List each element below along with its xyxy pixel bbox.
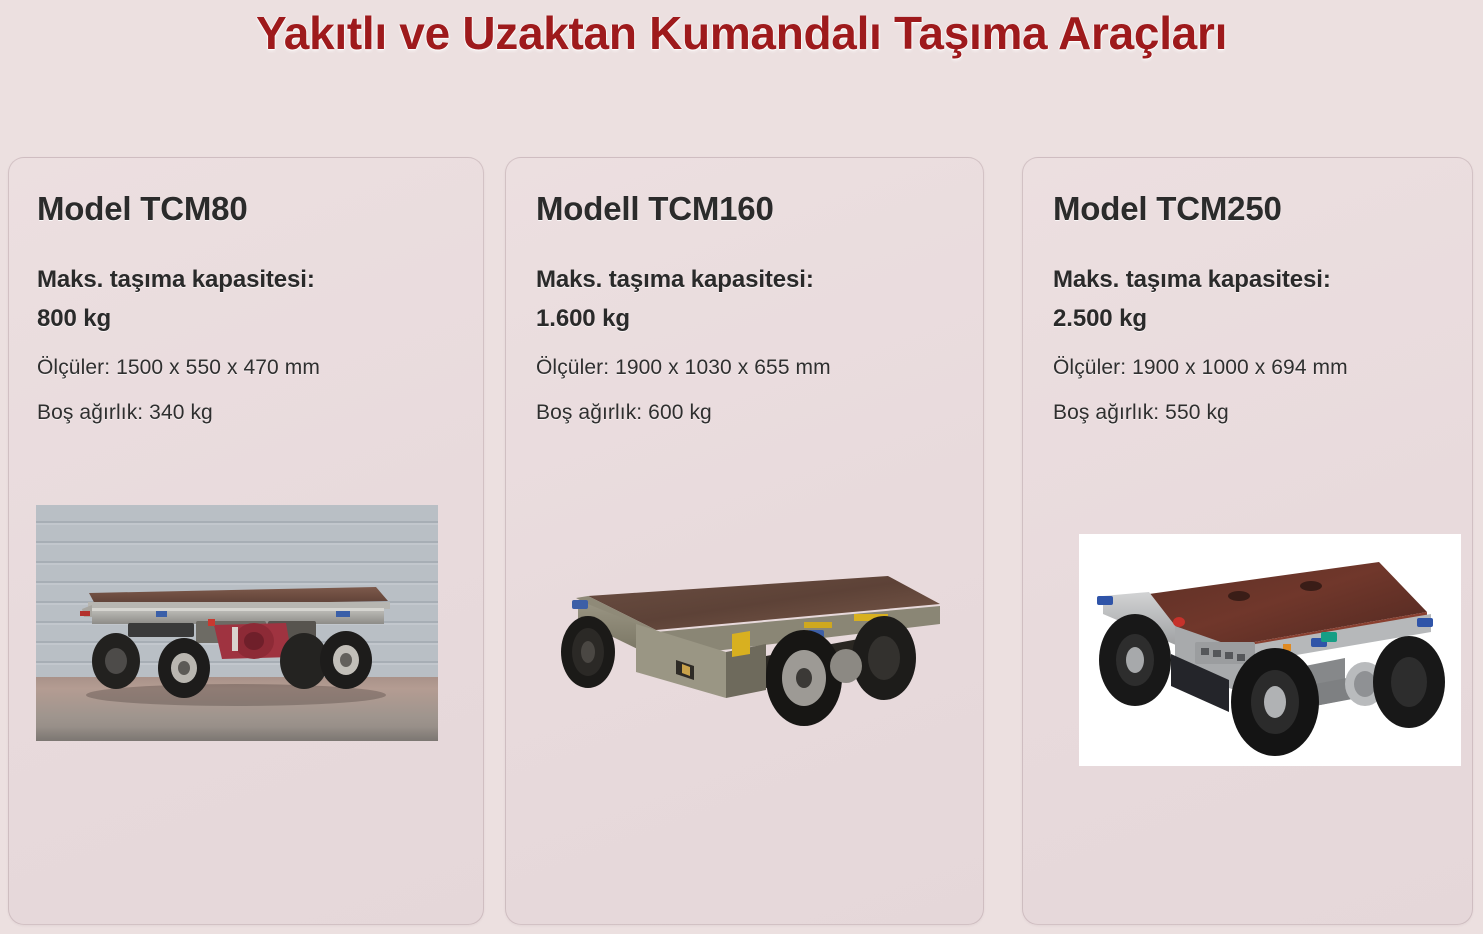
vehicle-illustration-tcm250 (1079, 534, 1461, 766)
product-card-tcm250[interactable]: Model TCM250 Maks. taşıma kapasitesi: 2.… (1022, 157, 1473, 925)
dimensions-line: Ölçüler: 1500 x 550 x 470 mm (37, 356, 455, 380)
vehicle-illustration-tcm80 (36, 505, 438, 741)
product-model-title: Modell TCM160 (536, 190, 955, 228)
product-cards-row: Model TCM80 Maks. taşıma kapasitesi: 800… (0, 157, 1483, 925)
capacity-label: Maks. taşıma kapasitesi: (536, 266, 955, 294)
empty-weight-line: Boş ağırlık: 340 kg (37, 401, 455, 425)
product-card-tcm80[interactable]: Model TCM80 Maks. taşıma kapasitesi: 800… (8, 157, 484, 925)
product-model-title: Model TCM250 (1053, 190, 1444, 228)
capacity-value: 800 kg (37, 305, 455, 333)
capacity-label: Maks. taşıma kapasitesi: (37, 266, 455, 294)
dimensions-line: Ölçüler: 1900 x 1000 x 694 mm (1053, 356, 1444, 380)
dimensions-line: Ölçüler: 1900 x 1030 x 655 mm (536, 356, 955, 380)
vehicle-illustration-tcm160 (536, 548, 954, 748)
product-card-tcm160[interactable]: Modell TCM160 Maks. taşıma kapasitesi: 1… (505, 157, 984, 925)
product-model-title: Model TCM80 (37, 190, 455, 228)
capacity-value: 2.500 kg (1053, 305, 1444, 333)
capacity-value: 1.600 kg (536, 305, 955, 333)
empty-weight-line: Boş ağırlık: 550 kg (1053, 401, 1444, 425)
page-title: Yakıtlı ve Uzaktan Kumandalı Taşıma Araç… (0, 6, 1483, 60)
product-image-tcm80 (36, 505, 438, 741)
empty-weight-line: Boş ağırlık: 600 kg (536, 401, 955, 425)
product-image-tcm250 (1079, 534, 1461, 766)
product-image-tcm160 (536, 548, 954, 748)
capacity-label: Maks. taşıma kapasitesi: (1053, 266, 1444, 294)
